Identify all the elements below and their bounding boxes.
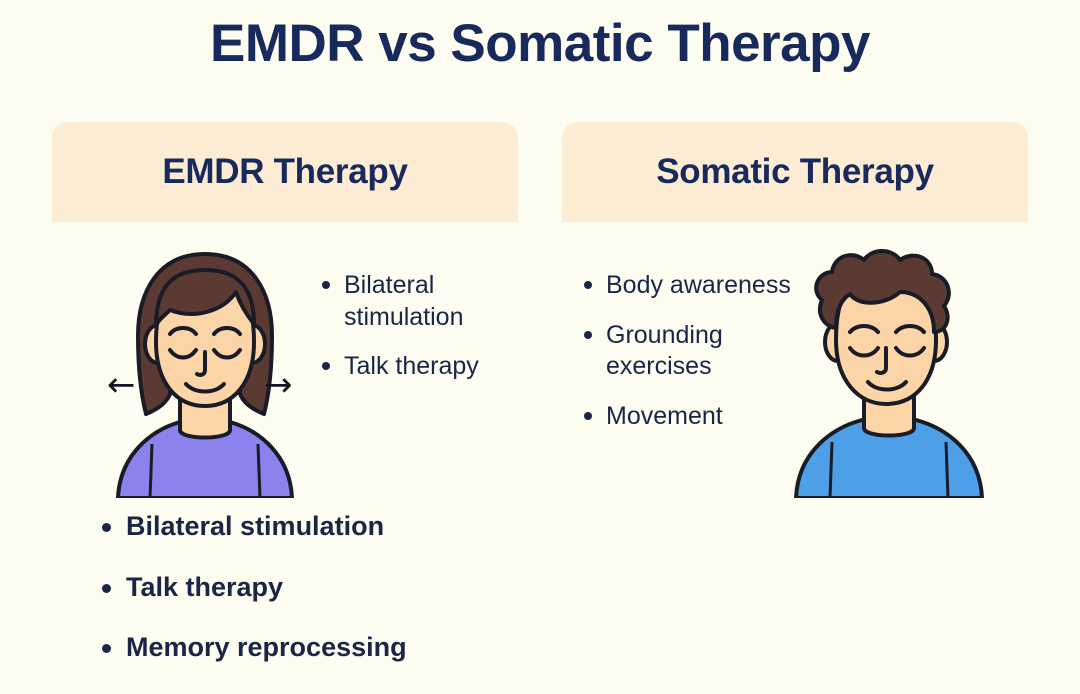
somatic-feature-list: Body awareness Grounding exercises Movem… [582, 270, 802, 450]
man-closed-eyes-illustration [780, 248, 1010, 503]
header-card-somatic: Somatic Therapy [562, 122, 1028, 222]
emdr-feature-list: Bilateral stimulation Talk therapy [320, 270, 520, 401]
header-card-somatic-label: Somatic Therapy [656, 152, 934, 192]
summary-list: Bilateral stimulation Talk therapy Memor… [100, 512, 800, 694]
list-item: Talk therapy [100, 573, 800, 603]
list-item: Movement [582, 401, 802, 433]
infographic-page: EMDR vs Somatic Therapy EMDR Therapy Som… [0, 0, 1080, 675]
list-item: Body awareness [582, 270, 802, 302]
list-item: Bilateral stimulation [100, 512, 800, 542]
list-item: Memory reprocessing [100, 633, 800, 663]
header-card-emdr-label: EMDR Therapy [162, 152, 407, 192]
list-item: Grounding exercises [582, 320, 802, 383]
arrow-left-icon: ← [107, 368, 136, 402]
header-card-emdr: EMDR Therapy [52, 122, 518, 222]
arrow-right-icon: → [264, 368, 293, 402]
column-somatic: Body awareness Grounding exercises Movem… [562, 240, 1032, 510]
page-title: EMDR vs Somatic Therapy [0, 14, 1080, 75]
list-item: Talk therapy [320, 351, 520, 383]
column-emdr: ← → Bilateral stimulation Talk therapy [52, 240, 522, 510]
list-item: Bilateral stimulation [320, 270, 520, 333]
